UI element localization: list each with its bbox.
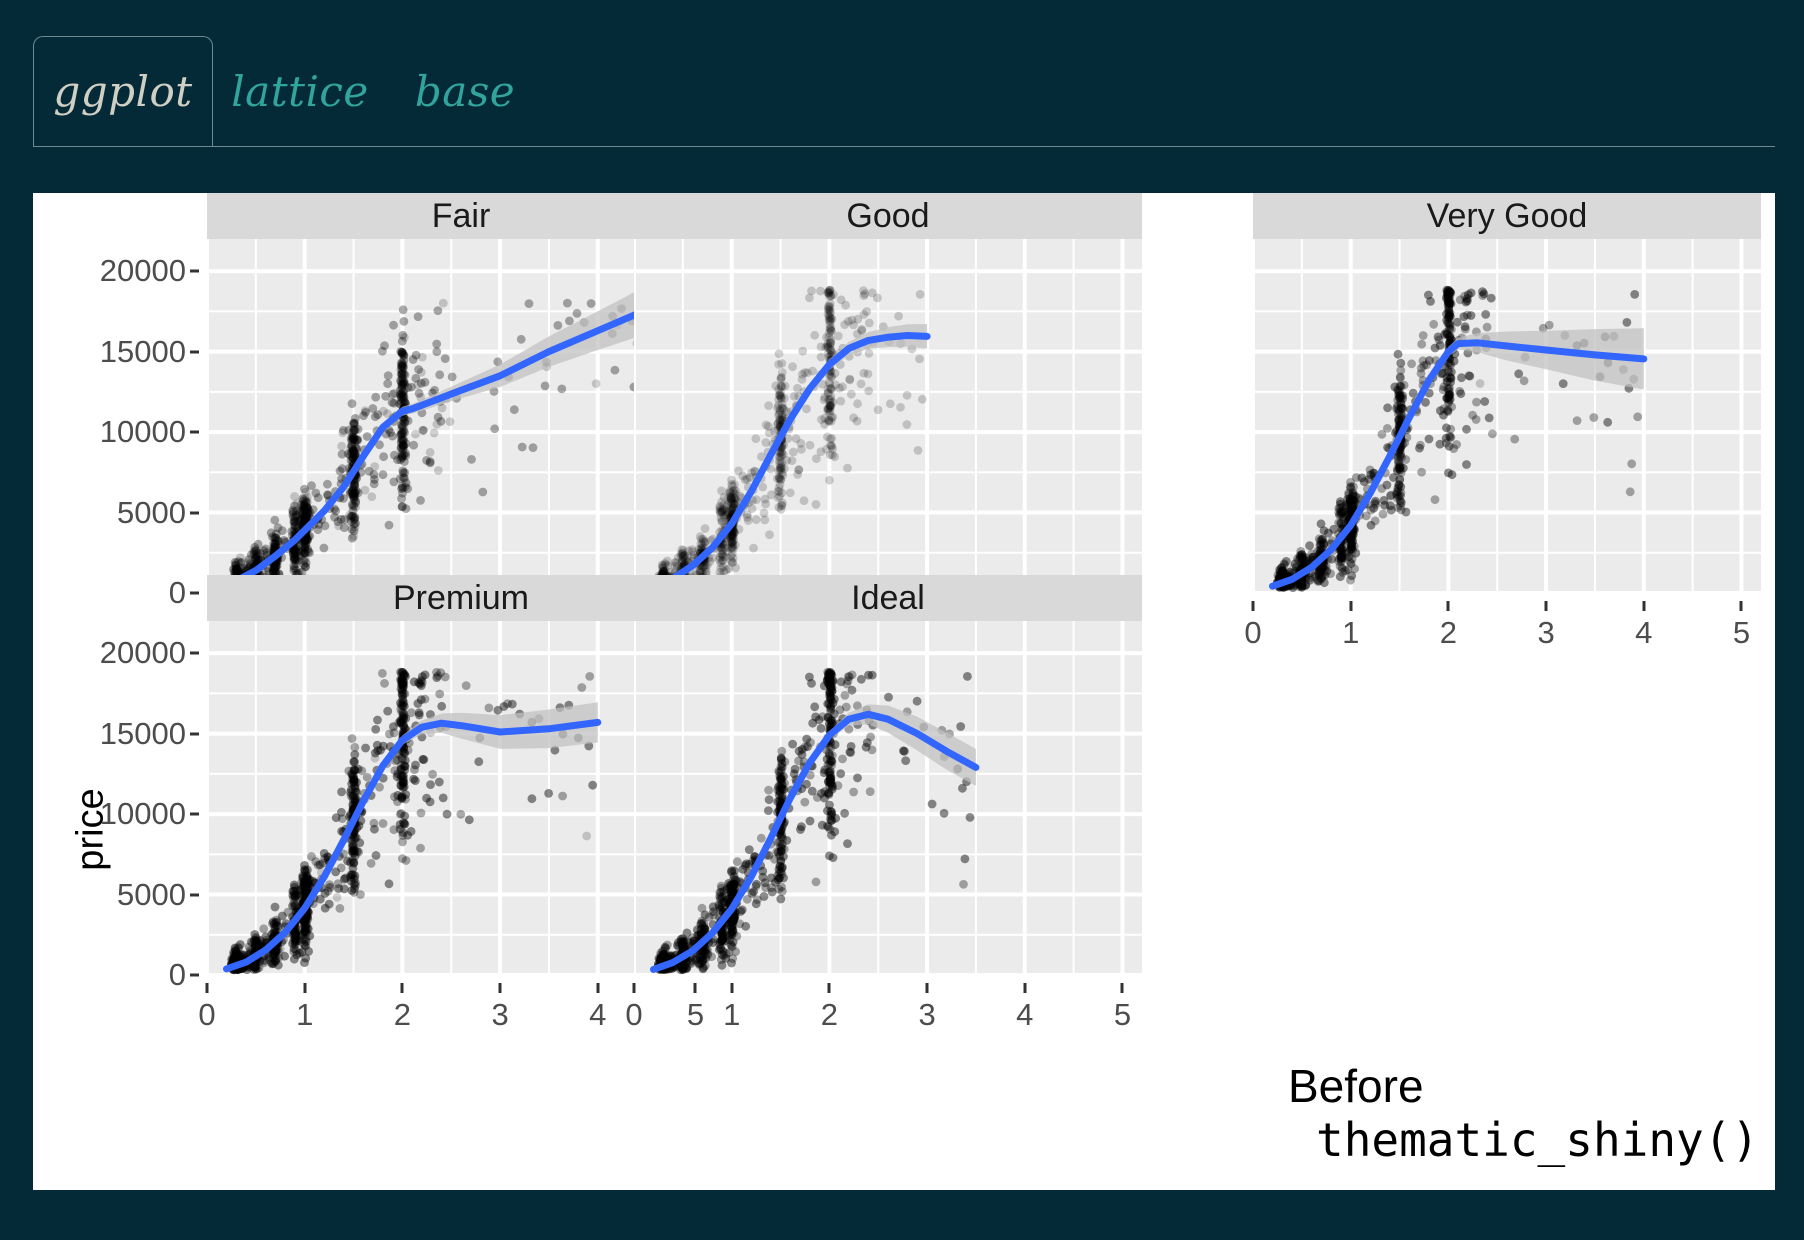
y-axis-top: 05000100001500020000 (33, 239, 208, 593)
tab-bar-underline (33, 146, 1775, 147)
x-tick-mark (1642, 601, 1645, 611)
y-tick-mark (190, 732, 199, 735)
y-tick-label: 5000 (33, 495, 186, 531)
x-tick-mark (596, 983, 599, 993)
tab-base-label: base (415, 67, 515, 116)
y-tick-label: 5000 (33, 877, 186, 913)
x-tick-label: 1 (296, 997, 313, 1033)
x-tick-mark (1252, 601, 1255, 611)
annotation-line-1: Before (1288, 1063, 1775, 1109)
y-tick-label: 10000 (33, 796, 186, 832)
x-tick-mark (401, 983, 404, 993)
y-tick-label: 20000 (33, 635, 186, 671)
y-tick-mark (190, 893, 199, 896)
x-tick-mark (303, 983, 306, 993)
x-tick-label: 3 (491, 997, 508, 1033)
facet-strip-label: Very Good (1427, 197, 1588, 236)
facet-panel-good (634, 239, 1142, 593)
facet-strip-label: Ideal (851, 579, 925, 618)
x-tick-mark (730, 983, 733, 993)
smooth-line (227, 722, 598, 969)
x-tick-label: 1 (723, 997, 740, 1033)
y-tick-mark (190, 270, 199, 273)
x-tick-label: 0 (198, 997, 215, 1033)
y-tick-label: 0 (33, 575, 186, 611)
x-tick-mark (499, 983, 502, 993)
facet-panel-very-good (1253, 239, 1761, 593)
facet-strip-label: Good (846, 197, 929, 236)
y-tick-mark (190, 813, 199, 816)
facet-strip-good: Good (634, 193, 1142, 239)
y-tick-label: 20000 (33, 253, 186, 289)
x-axis-ideal: 012345 (634, 983, 1142, 1043)
x-tick-mark (1121, 983, 1124, 993)
tab-lattice[interactable]: lattice (240, 36, 360, 146)
x-tick-label: 0 (1244, 615, 1261, 651)
x-tick-mark (1740, 601, 1743, 611)
facet-panel-ideal (634, 621, 1142, 975)
x-tick-mark (926, 983, 929, 993)
tab-ggplot[interactable]: ggplot (33, 36, 213, 146)
y-tick-mark (190, 974, 199, 977)
facet-strip-ideal: Ideal (634, 575, 1142, 621)
y-tick-mark (190, 511, 199, 514)
y-tick-label: 0 (33, 957, 186, 993)
y-tick-mark (190, 350, 199, 353)
x-tick-label: 1 (1342, 615, 1359, 651)
x-tick-label: 5 (1114, 997, 1131, 1033)
x-tick-mark (633, 983, 636, 993)
facet-strip-label: Fair (432, 197, 491, 236)
x-tick-mark (1545, 601, 1548, 611)
x-tick-mark (1023, 983, 1026, 993)
x-tick-label: 2 (1440, 615, 1457, 651)
y-tick-mark (190, 592, 199, 595)
x-tick-label: 4 (1016, 997, 1033, 1033)
x-tick-label: 4 (589, 997, 606, 1033)
x-tick-mark (828, 983, 831, 993)
tab-base[interactable]: base (420, 36, 510, 146)
facet-strip-label: Premium (393, 579, 529, 618)
plot-card: price carat Fair05000100001500020000Good… (33, 193, 1775, 1190)
x-tick-label: 5 (1733, 615, 1750, 651)
x-tick-label: 2 (821, 997, 838, 1033)
y-tick-label: 15000 (33, 334, 186, 370)
x-axis-very-good: 012345 (1253, 601, 1761, 661)
facet-strip-very-good: Very Good (1253, 193, 1761, 239)
tab-lattice-label: lattice (231, 67, 369, 116)
y-tick-mark (190, 652, 199, 655)
x-tick-mark (206, 983, 209, 993)
annotation-block: Before thematic_shiny() (1288, 1063, 1775, 1171)
x-tick-label: 3 (918, 997, 935, 1033)
y-tick-label: 10000 (33, 414, 186, 450)
x-tick-label: 3 (1537, 615, 1554, 651)
x-tick-label: 0 (625, 997, 642, 1033)
tab-bar: ggplot lattice base (0, 0, 1804, 150)
y-tick-mark (190, 431, 199, 434)
y-axis-bottom: 05000100001500020000 (33, 621, 208, 975)
annotation-line-2: thematic_shiny() (1288, 1109, 1775, 1171)
x-tick-label: 4 (1635, 615, 1652, 651)
y-tick-label: 15000 (33, 716, 186, 752)
x-tick-mark (1447, 601, 1450, 611)
x-tick-label: 2 (394, 997, 411, 1033)
tab-ggplot-label: ggplot (53, 67, 192, 116)
x-tick-mark (1349, 601, 1352, 611)
